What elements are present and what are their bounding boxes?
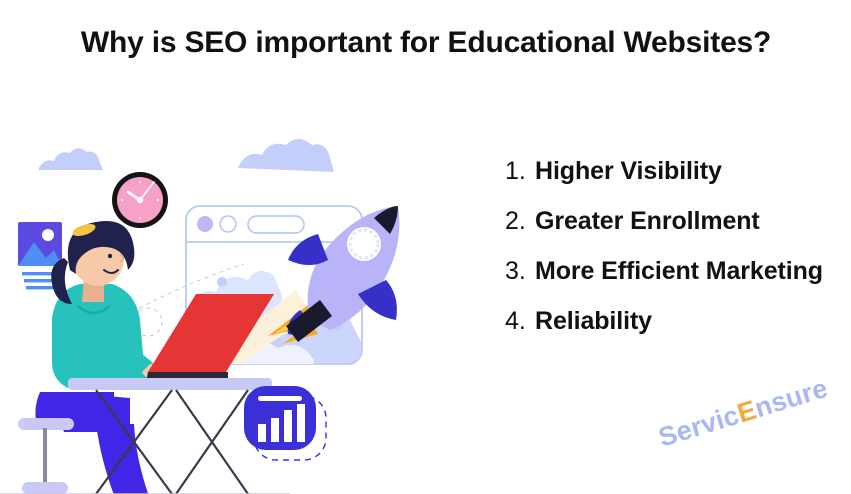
list-item-number: 4.	[505, 305, 535, 337]
list-item-number: 2.	[505, 205, 535, 237]
watermark-accent-letter: E	[734, 395, 760, 429]
benefits-list: 1. Higher Visibility 2. Greater Enrollme…	[505, 155, 835, 355]
list-item-number: 1.	[505, 155, 535, 187]
list-item-label: Higher Visibility	[535, 155, 835, 187]
list-item: 2. Greater Enrollment	[505, 205, 835, 237]
watermark-part-three: nsure	[751, 373, 831, 423]
list-item-label: More Efficient Marketing	[535, 255, 835, 287]
page-title: Why is SEO important for Educational Web…	[70, 22, 782, 63]
bar-chart-icon	[244, 386, 326, 460]
list-item: 3. More Efficient Marketing	[505, 255, 835, 287]
analog-clock	[112, 172, 168, 228]
infographic-canvas: Why is SEO important for Educational Web…	[0, 0, 851, 494]
cloud-top-left	[38, 148, 103, 170]
list-item-label: Reliability	[535, 305, 835, 337]
list-item-number: 3.	[505, 255, 535, 287]
stool	[18, 418, 74, 494]
list-item: 1. Higher Visibility	[505, 155, 835, 187]
browser-dot-filled	[197, 216, 213, 232]
watermark-part-one: Servic	[655, 400, 742, 453]
brand-watermark: ServicEnsure	[655, 373, 831, 454]
list-item-label: Greater Enrollment	[535, 205, 835, 237]
seo-growth-illustration	[0, 130, 460, 494]
list-item: 4. Reliability	[505, 305, 835, 337]
cloud-top-right	[238, 139, 334, 172]
